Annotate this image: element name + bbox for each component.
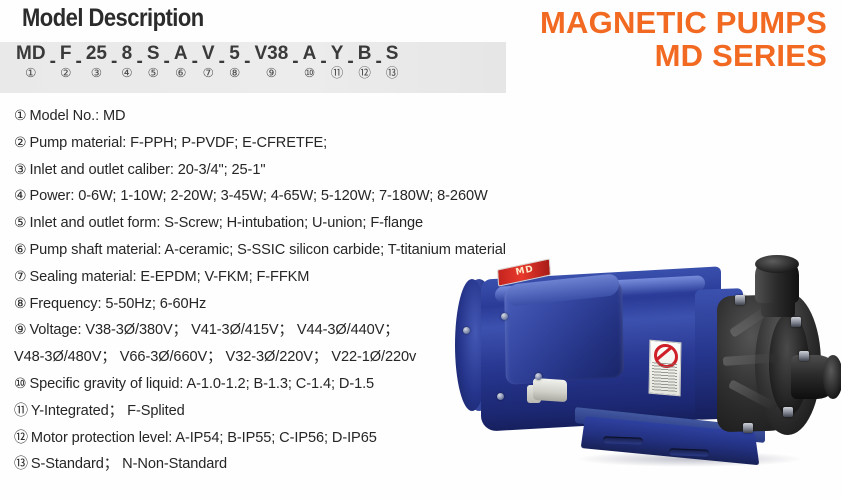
model-code-separator: - xyxy=(160,52,174,72)
model-code-index: ① xyxy=(25,65,36,81)
foot-slot xyxy=(603,436,643,444)
spec-index: ⑪ xyxy=(14,403,28,419)
spec-index: ① xyxy=(14,108,26,124)
brand-title-line2: MD SERIES xyxy=(540,39,827,72)
model-code-segment: V⑦ xyxy=(202,44,215,81)
spec-index: ⑫ xyxy=(14,430,28,446)
model-code-index: ⑧ xyxy=(229,65,240,81)
model-code-index: ② xyxy=(60,65,71,81)
spec-index: ⑬ xyxy=(14,456,28,472)
model-code-segment: V38⑨ xyxy=(254,44,288,81)
spec-text: V48-3Ø/480V； V66-3Ø/660V； V32-3Ø/220V； V… xyxy=(14,349,416,365)
model-code-token: 25 xyxy=(86,44,107,64)
head-bolt xyxy=(783,407,793,417)
model-code-index: ⑫ xyxy=(358,65,371,81)
head-bolt xyxy=(799,351,809,361)
brand-title: MAGNETIC PUMPS MD SERIES xyxy=(540,6,827,72)
foot-slot xyxy=(669,448,709,456)
model-code-token: V xyxy=(202,44,215,64)
motor-screw xyxy=(497,393,504,400)
model-code-index: ⑤ xyxy=(148,65,159,81)
model-code-segment: S⑤ xyxy=(147,44,160,81)
model-code-token: A xyxy=(303,44,317,64)
model-code-token: MD xyxy=(16,44,46,64)
motor-screw xyxy=(501,313,508,320)
head-bolt xyxy=(743,423,753,433)
discharge-port-cap xyxy=(755,255,799,273)
model-code-token: 8 xyxy=(122,44,133,64)
model-code-token: Y xyxy=(331,44,344,64)
spec-text: Sealing material: E-EPDM; V-FKM; F-FFKM xyxy=(29,269,309,285)
model-code-separator: - xyxy=(316,52,330,72)
spec-index: ③ xyxy=(14,162,26,178)
spec-text: Voltage: V38-3Ø/380V； V41-3Ø/415V； V44-3… xyxy=(29,322,398,338)
head-bolt xyxy=(735,295,745,305)
model-code-segment: F② xyxy=(60,44,72,81)
spec-index: ⑥ xyxy=(14,242,26,258)
model-code-separator: - xyxy=(72,52,86,72)
model-code-token: A xyxy=(174,44,188,64)
spec-text: Y-Integrated； F-Splited xyxy=(31,403,185,419)
suction-port-cap xyxy=(823,355,841,399)
model-code-separator: - xyxy=(215,52,229,72)
model-code-segment: S⑬ xyxy=(386,44,399,81)
spec-text: Pump shaft material: A-ceramic; S-SSIC s… xyxy=(29,242,505,258)
spec-line: ④Power: 0-6W; 1-10W; 2-20W; 3-45W; 4-65W… xyxy=(14,183,534,210)
model-code-index: ⑦ xyxy=(203,65,214,81)
spec-text: Specific gravity of liquid: A-1.0-1.2; B… xyxy=(29,376,374,392)
model-code-token: B xyxy=(358,44,372,64)
spec-text: Pump material: F-PPH; P-PVDF; E-CFRETFE; xyxy=(29,135,327,151)
model-code-separator: - xyxy=(46,52,60,72)
model-code-token: V38 xyxy=(254,44,288,64)
spec-text: Power: 0-6W; 1-10W; 2-20W; 3-45W; 4-65W;… xyxy=(29,188,487,204)
model-code-index: ⑬ xyxy=(386,65,399,81)
datasheet-page: Model Description MAGNETIC PUMPS MD SERI… xyxy=(0,0,841,500)
cable-gland xyxy=(533,378,567,402)
spec-text: Motor protection level: A-IP54; B-IP55; … xyxy=(31,430,377,446)
spec-index: ⑧ xyxy=(14,296,26,312)
page-title: Model Description xyxy=(22,4,204,33)
model-code-separator: - xyxy=(288,52,302,72)
model-code-index: ⑩ xyxy=(304,65,315,81)
model-code-index: ④ xyxy=(121,65,132,81)
model-code-separator: - xyxy=(133,52,147,72)
model-code-separator: - xyxy=(240,52,254,72)
model-code-segment: A⑩ xyxy=(303,44,317,81)
model-code-index: ③ xyxy=(91,65,102,81)
spec-index: ② xyxy=(14,135,26,151)
model-code-token: 5 xyxy=(229,44,240,64)
model-code-separator: - xyxy=(188,52,202,72)
model-code-token: S xyxy=(386,44,399,64)
model-code-index: ⑨ xyxy=(266,65,277,81)
model-code-separator: - xyxy=(107,52,121,72)
model-code-index: ⑥ xyxy=(175,65,186,81)
spec-line: ⑤Inlet and outlet form: S-Screw; H-intub… xyxy=(14,210,534,237)
motor-screw xyxy=(535,373,542,380)
model-code-token: S xyxy=(147,44,160,64)
model-code-segment: B⑫ xyxy=(358,44,372,81)
warning-sticker-text xyxy=(652,362,677,392)
spec-index: ④ xyxy=(14,188,26,204)
model-code-segment: Y⑪ xyxy=(331,44,344,81)
spec-text: Model No.: MD xyxy=(29,108,125,124)
spec-index: ⑩ xyxy=(14,376,26,392)
spec-line: ③Inlet and outlet caliber: 20-3/4"; 25-1… xyxy=(14,157,534,184)
spec-line: ①Model No.: MD xyxy=(14,103,534,130)
spec-text: Inlet and outlet form: S-Screw; H-intuba… xyxy=(29,215,423,231)
spec-index: ⑦ xyxy=(14,269,26,285)
spec-line: ②Pump material: F-PPH; P-PVDF; E-CFRETFE… xyxy=(14,130,534,157)
model-code-separator: - xyxy=(371,52,385,72)
spec-text: Inlet and outlet caliber: 20-3/4"; 25-1" xyxy=(29,162,265,178)
spec-index: ⑤ xyxy=(14,215,26,231)
model-code-segment: MD① xyxy=(16,44,46,81)
model-code-row: MD①-F②-25③-8④-S⑤-A⑥-V⑦-5⑧-V38⑨-A⑩-Y⑪-B⑫-… xyxy=(16,44,398,81)
model-code-segment: 25③ xyxy=(86,44,107,81)
model-code-segment: A⑥ xyxy=(174,44,188,81)
spec-text: Frequency: 5-50Hz; 6-60Hz xyxy=(29,296,206,312)
brand-title-line1: MAGNETIC PUMPS xyxy=(540,6,827,39)
model-code-separator: - xyxy=(343,52,357,72)
model-code-segment: 5⑧ xyxy=(229,44,240,81)
motor-screw xyxy=(463,327,470,334)
spec-index: ⑨ xyxy=(14,322,26,338)
model-code-token: F xyxy=(60,44,72,64)
head-bolt xyxy=(791,317,801,327)
model-code-segment: 8④ xyxy=(121,44,132,81)
product-photo: MD xyxy=(455,255,841,500)
spec-text: S-Standard； N-Non-Standard xyxy=(31,456,227,472)
model-code-index: ⑪ xyxy=(331,65,344,81)
